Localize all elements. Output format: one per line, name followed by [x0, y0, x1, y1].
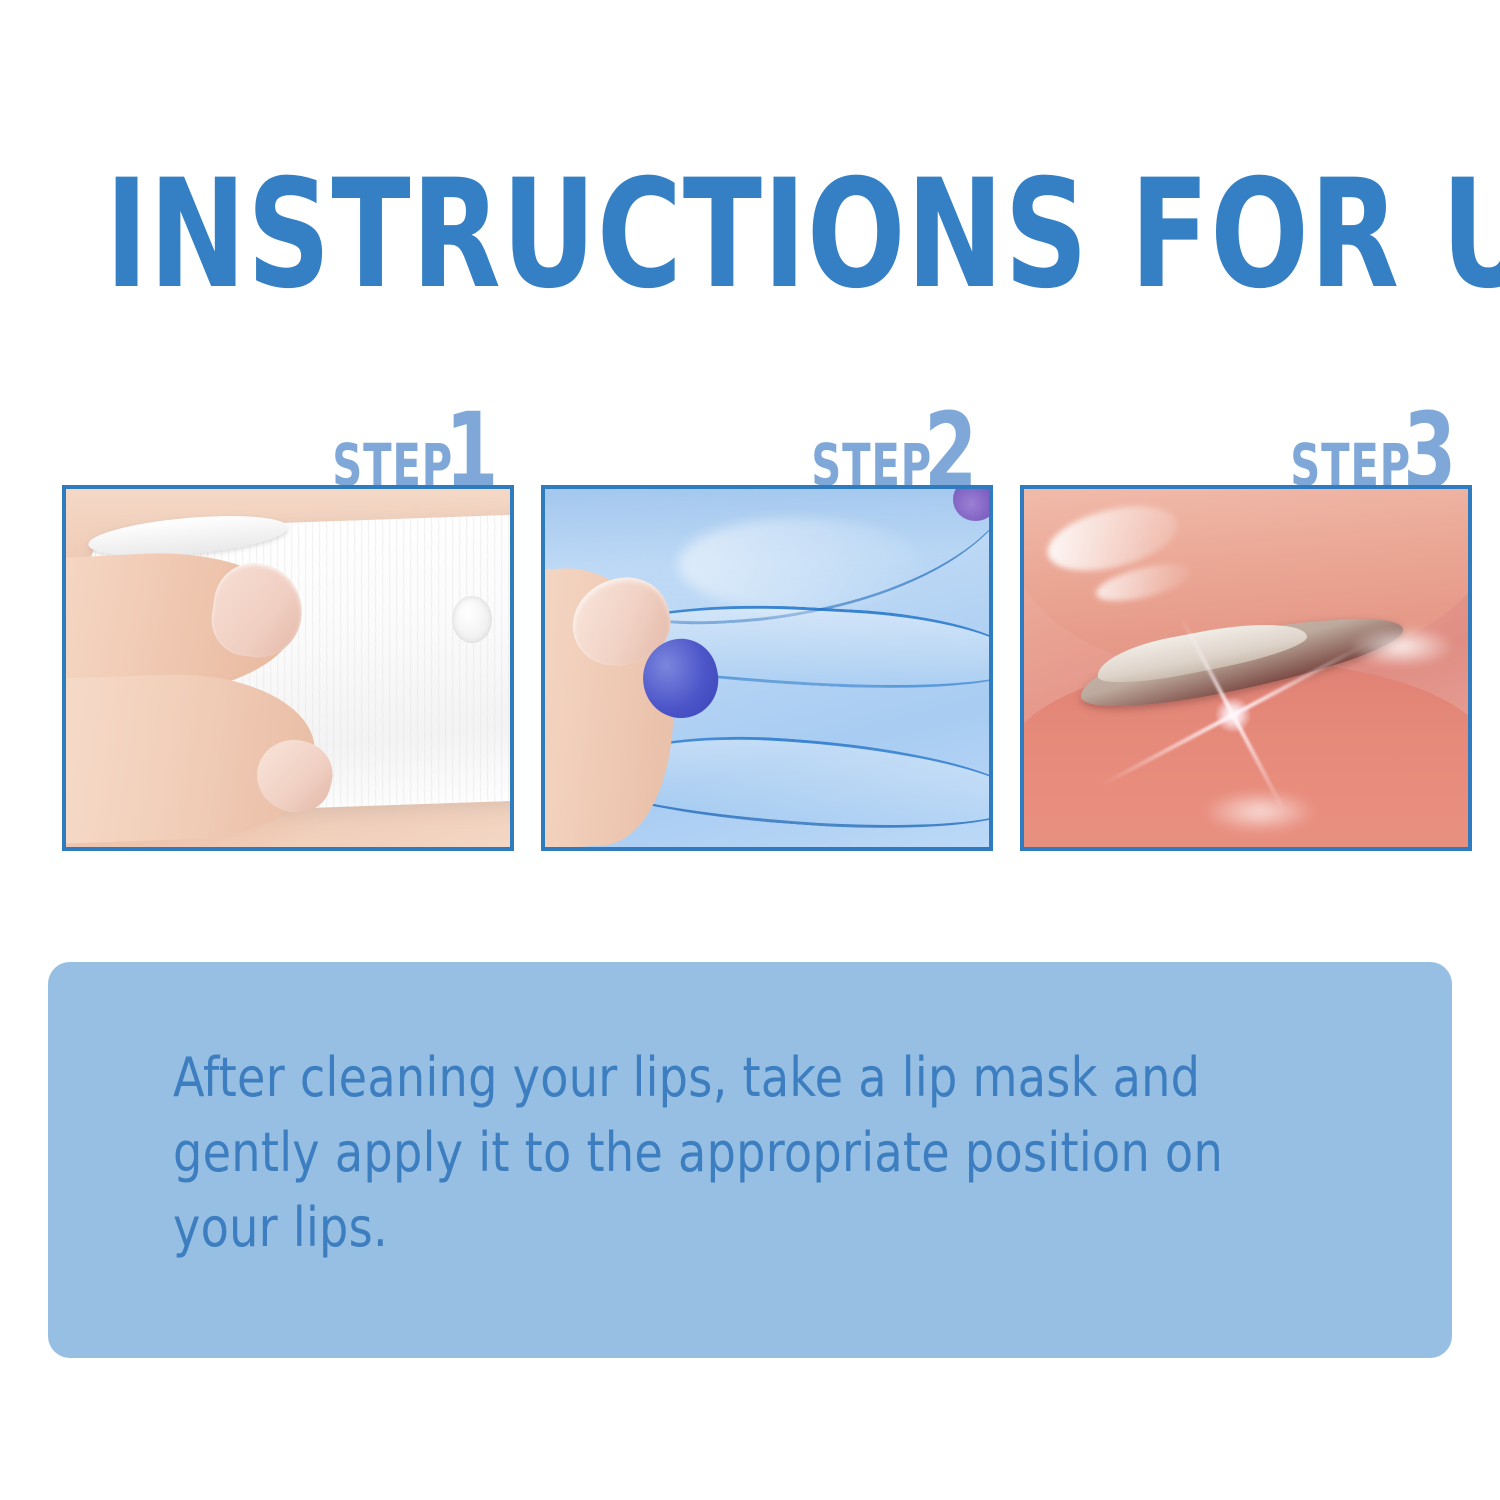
steps-row: STEP 1 STEP 2 [62, 380, 1472, 855]
instructions-page: INSTRUCTIONS FOR USE STEP 1 [0, 0, 1500, 1500]
lip-gloss-highlight-4 [1202, 790, 1317, 833]
caption-panel: After cleaning your lips, take a lip mas… [48, 962, 1452, 1358]
step-card-3: STEP 3 [1020, 380, 1472, 855]
step-image-1 [66, 489, 510, 847]
step-word-2: STEP [811, 442, 932, 490]
step-number-1: 1 [445, 409, 498, 494]
step-number-3: 3 [1403, 409, 1456, 494]
step-image-2 [545, 489, 989, 847]
step-image-3 [1024, 489, 1468, 847]
step-image-frame-3 [1020, 485, 1472, 851]
step-label-2: STEP 2 [773, 380, 989, 490]
step-card-2: STEP 2 [541, 380, 993, 855]
step-label-1: STEP 1 [294, 380, 510, 490]
caption-text: After cleaning your lips, take a lip mas… [173, 1040, 1313, 1265]
page-title: INSTRUCTIONS FOR USE [105, 160, 1395, 310]
step-image-frame-1 [62, 485, 514, 851]
step-card-1: STEP 1 [62, 380, 514, 855]
step-image-frame-2 [541, 485, 993, 851]
step-word-3: STEP [1290, 442, 1411, 490]
sparkle-core [1215, 697, 1251, 733]
cotton-pad-dimple [452, 596, 492, 643]
step-word-1: STEP [332, 442, 453, 490]
step-label-3: STEP 3 [1252, 380, 1468, 490]
step-number-2: 2 [924, 409, 977, 494]
gel-sheen [678, 518, 922, 611]
